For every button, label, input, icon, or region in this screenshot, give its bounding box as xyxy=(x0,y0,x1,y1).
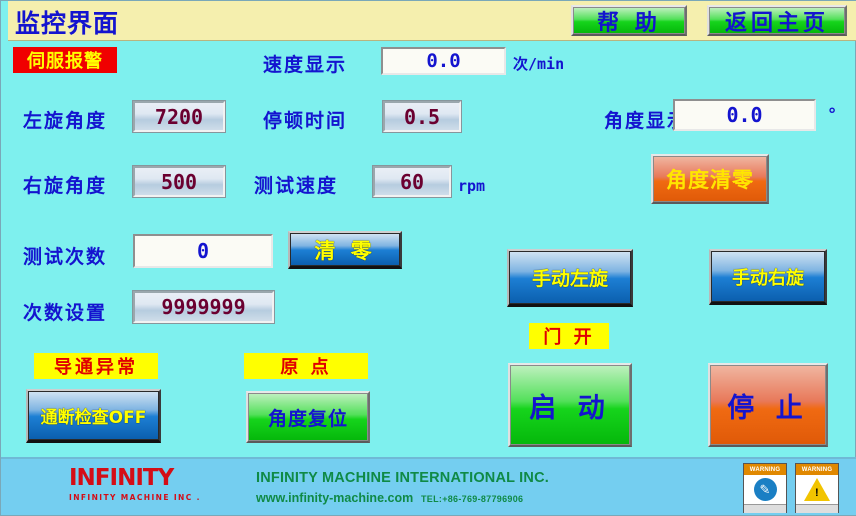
speed-unit-label: 次/min xyxy=(513,53,564,74)
company-telephone: TEL:+86-769-87796906 xyxy=(421,494,523,504)
angle-unit-label: ° xyxy=(827,105,837,125)
counter-clear-button[interactable]: 清 零 xyxy=(288,231,402,269)
count-setting-input[interactable]: 9999999 xyxy=(133,291,274,323)
hazard-triangle-glyph xyxy=(804,478,830,501)
return-home-button-label: 返回主页 xyxy=(709,7,845,34)
speed-display-label: 速度显示 xyxy=(263,50,347,77)
continuity-check-button[interactable]: 通断检查OFF xyxy=(26,389,161,443)
page-title: 监控界面 xyxy=(15,4,119,40)
company-url: www.infinity-machine.com xyxy=(256,491,413,505)
speed-display-value: 0.0 xyxy=(381,47,506,75)
left-rotation-angle-label: 左旋角度 xyxy=(23,106,107,133)
pause-time-input[interactable]: 0.5 xyxy=(383,101,461,132)
angle-display-value: 0.0 xyxy=(673,99,816,131)
servo-alarm-indicator: 伺服报警 xyxy=(13,47,117,73)
test-count-label: 测试次数 xyxy=(23,242,107,269)
help-button[interactable]: 帮 助 xyxy=(571,5,687,36)
manual-left-rotate-button[interactable]: 手动左旋 xyxy=(507,249,633,307)
door-open-indicator: 门 开 xyxy=(529,323,609,349)
test-count-value: 0 xyxy=(133,234,273,268)
logo-tagline: INFINITY MACHINE INC . xyxy=(69,493,201,502)
manual-left-rotate-button-label: 手动左旋 xyxy=(509,251,631,304)
manual-right-rotate-button[interactable]: 手动右旋 xyxy=(709,249,827,305)
return-home-button[interactable]: 返回主页 xyxy=(707,5,847,36)
safety-label-footer-2 xyxy=(796,504,838,513)
test-speed-label: 测试速度 xyxy=(254,171,338,198)
count-setting-label: 次数设置 xyxy=(23,298,107,325)
start-button-label: 启 动 xyxy=(510,365,630,445)
warning-banner-2: WARNING xyxy=(796,464,838,475)
manual-book-glyph: ✎ xyxy=(754,478,777,501)
conduction-abnormal-indicator: 导通异常 xyxy=(34,353,158,379)
angle-clear-button-label: 角度清零 xyxy=(653,156,767,202)
safety-label-read-manual: WARNING ✎ xyxy=(743,463,787,513)
start-button[interactable]: 启 动 xyxy=(508,363,632,447)
infinity-logo: INFINITY INFINITY MACHINE INC . xyxy=(69,467,201,502)
counter-clear-button-label: 清 零 xyxy=(290,233,400,266)
title-bar-left-notch xyxy=(1,1,8,41)
test-speed-unit-label: rpm xyxy=(458,177,485,195)
safety-label-footer-1 xyxy=(744,504,786,513)
title-bar: 监控界面 帮 助 返回主页 xyxy=(1,1,856,41)
angle-reset-button[interactable]: 角度复位 xyxy=(246,391,370,443)
warning-banner-1: WARNING xyxy=(744,464,786,475)
footer-bar: INFINITY INFINITY MACHINE INC . INFINITY… xyxy=(1,457,856,515)
angle-clear-button[interactable]: 角度清零 xyxy=(651,154,769,204)
test-speed-input[interactable]: 60 xyxy=(373,166,451,197)
stop-button[interactable]: 停 止 xyxy=(708,363,828,447)
safety-label-crush-hazard: WARNING xyxy=(795,463,839,513)
angle-reset-button-label: 角度复位 xyxy=(248,393,368,441)
stop-button-label: 停 止 xyxy=(710,365,826,445)
pause-time-label: 停顿时间 xyxy=(263,106,347,133)
logo-wordmark: INFINITY xyxy=(69,467,201,490)
right-rotation-angle-label: 右旋角度 xyxy=(23,171,107,198)
company-name: INFINITY MACHINE INTERNATIONAL INC. xyxy=(256,470,549,486)
origin-point-indicator: 原 点 xyxy=(244,353,368,379)
read-manual-icon: ✎ xyxy=(744,475,786,504)
left-rotation-angle-input[interactable]: 7200 xyxy=(133,101,225,132)
help-button-label: 帮 助 xyxy=(573,7,685,34)
continuity-check-button-label: 通断检查OFF xyxy=(28,391,159,440)
hazard-triangle-icon xyxy=(796,475,838,504)
manual-right-rotate-button-label: 手动右旋 xyxy=(711,251,825,302)
right-rotation-angle-input[interactable]: 500 xyxy=(133,166,225,197)
